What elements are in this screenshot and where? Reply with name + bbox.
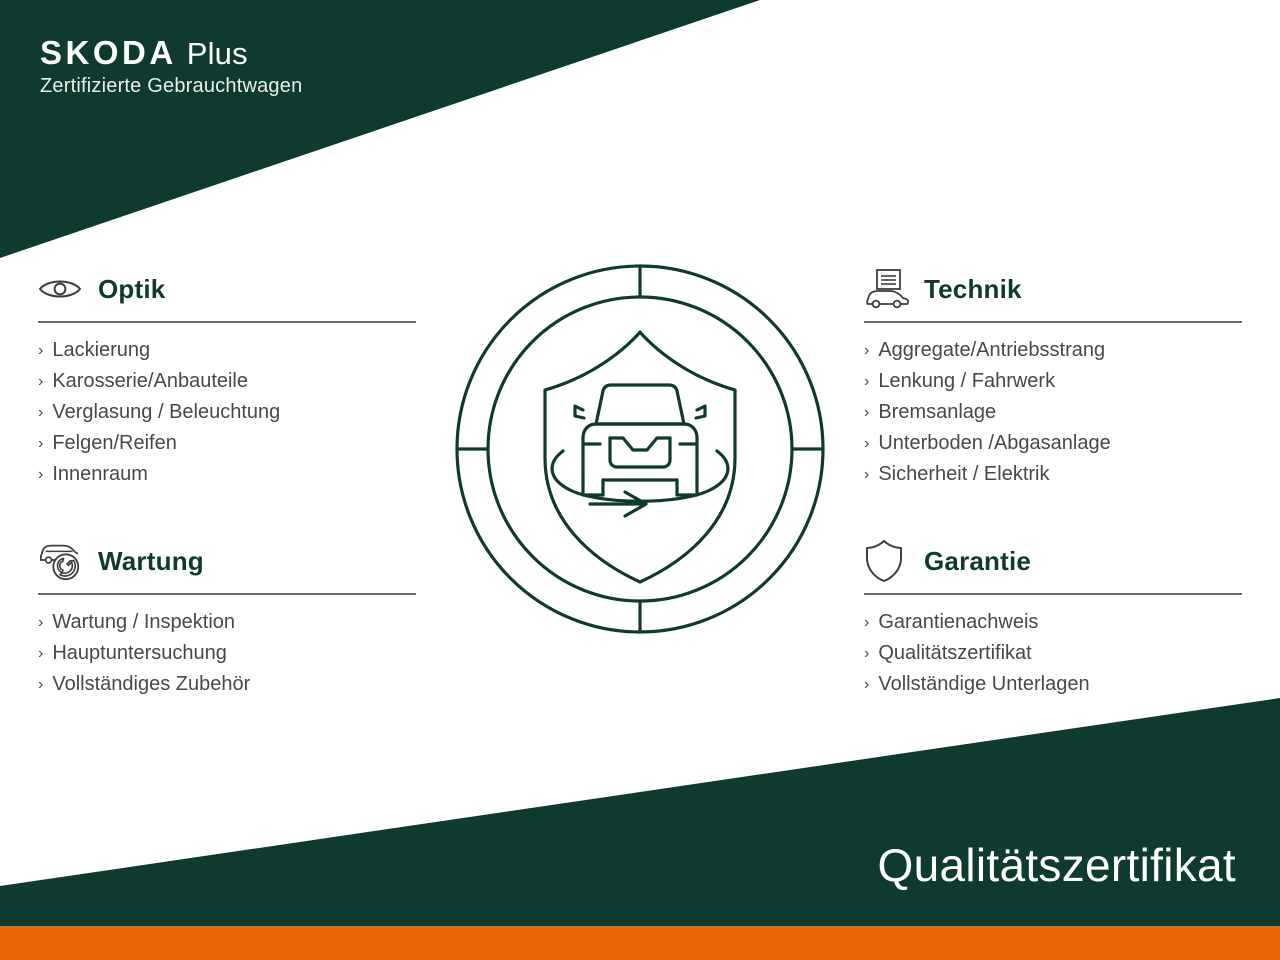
list-item-label: Aggregate/Antriebsstrang	[878, 335, 1105, 366]
certificate-page: SKODA Plus Zertifizierte Gebrauchtwagen …	[0, 0, 1280, 960]
chevron-right-icon: ›	[38, 335, 43, 366]
chevron-right-icon: ›	[864, 607, 869, 638]
section-garantie: Garantie ›Garantienachweis ›Qualitätszer…	[864, 538, 1242, 700]
shield-icon	[864, 541, 910, 581]
list-item: ›Innenraum	[38, 459, 416, 490]
car-document-icon	[864, 269, 910, 309]
section-optik: Optik ›Lackierung ›Karosserie/Anbauteile…	[38, 266, 416, 490]
plus-wordmark: Plus	[187, 36, 248, 72]
list-item: ›Verglasung / Beleuchtung	[38, 397, 416, 428]
list-item-label: Felgen/Reifen	[52, 428, 177, 459]
chevron-right-icon: ›	[38, 607, 43, 638]
chevron-right-icon: ›	[864, 335, 869, 366]
brand-logo-row: SKODA Plus	[40, 34, 302, 72]
list-item-label: Wartung / Inspektion	[52, 607, 235, 638]
shield-outline	[545, 332, 735, 582]
section-technik: Technik ›Aggregate/Antriebsstrang ›Lenku…	[864, 266, 1242, 490]
list-item-label: Lenkung / Fahrwerk	[878, 366, 1055, 397]
chevron-right-icon: ›	[864, 366, 869, 397]
section-optik-header: Optik	[38, 266, 416, 312]
chevron-right-icon: ›	[38, 397, 43, 428]
section-garantie-header: Garantie	[864, 538, 1242, 584]
list-item-label: Unterboden /Abgasanlage	[878, 428, 1110, 459]
orbit-ellipse	[552, 451, 730, 516]
section-technik-list: ›Aggregate/Antriebsstrang ›Lenkung / Fah…	[864, 335, 1242, 490]
chevron-right-icon: ›	[864, 459, 869, 490]
list-item-label: Verglasung / Beleuchtung	[52, 397, 280, 428]
list-item: ›Vollständige Unterlagen	[864, 669, 1242, 700]
list-item-label: Hauptuntersuchung	[52, 638, 227, 669]
list-item-label: Innenraum	[52, 459, 148, 490]
section-wartung-title: Wartung	[98, 546, 204, 577]
list-item: ›Lackierung	[38, 335, 416, 366]
section-wartung-header: Wartung	[38, 538, 416, 584]
eye-icon	[38, 269, 84, 309]
list-item-label: Garantienachweis	[878, 607, 1038, 638]
footer-title: Qualitätszertifikat	[878, 838, 1237, 892]
chevron-right-icon: ›	[864, 428, 869, 459]
list-item: ›Vollständiges Zubehör	[38, 669, 416, 700]
list-item: ›Wartung / Inspektion	[38, 607, 416, 638]
orange-accent-bar	[0, 926, 1280, 960]
list-item: ›Felgen/Reifen	[38, 428, 416, 459]
list-item: ›Sicherheit / Elektrik	[864, 459, 1242, 490]
list-item-label: Bremsanlage	[878, 397, 996, 428]
list-item-label: Karosserie/Anbauteile	[52, 366, 248, 397]
chevron-right-icon: ›	[864, 638, 869, 669]
section-garantie-divider	[864, 593, 1242, 595]
chevron-right-icon: ›	[38, 428, 43, 459]
section-technik-divider	[864, 321, 1242, 323]
list-item: ›Unterboden /Abgasanlage	[864, 428, 1242, 459]
section-wartung-divider	[38, 593, 416, 595]
section-garantie-title: Garantie	[924, 546, 1031, 577]
brand-logo: SKODA Plus Zertifizierte Gebrauchtwagen	[40, 34, 302, 98]
list-item: ›Karosserie/Anbauteile	[38, 366, 416, 397]
list-item: ›Garantienachweis	[864, 607, 1242, 638]
chevron-right-icon: ›	[38, 638, 43, 669]
skoda-wordmark: SKODA	[40, 34, 177, 72]
shield-car-orbit-emblem	[440, 248, 840, 650]
chevron-right-icon: ›	[864, 669, 869, 700]
section-wartung: Wartung ›Wartung / Inspektion ›Hauptunte…	[38, 538, 416, 700]
chevron-right-icon: ›	[38, 669, 43, 700]
section-optik-divider	[38, 321, 416, 323]
list-item-label: Sicherheit / Elektrik	[878, 459, 1049, 490]
chevron-right-icon: ›	[38, 459, 43, 490]
brand-tagline: Zertifizierte Gebrauchtwagen	[40, 75, 302, 98]
section-wartung-list: ›Wartung / Inspektion ›Hauptuntersuchung…	[38, 607, 416, 700]
list-item: ›Lenkung / Fahrwerk	[864, 366, 1242, 397]
list-item-label: Lackierung	[52, 335, 150, 366]
car-wrench-icon	[38, 541, 84, 581]
list-item: ›Qualitätszertifikat	[864, 638, 1242, 669]
section-garantie-list: ›Garantienachweis ›Qualitätszertifikat ›…	[864, 607, 1242, 700]
list-item-label: Vollständige Unterlagen	[878, 669, 1089, 700]
chevron-right-icon: ›	[38, 366, 43, 397]
list-item-label: Qualitätszertifikat	[878, 638, 1031, 669]
section-technik-header: Technik	[864, 266, 1242, 312]
car-front-outline	[575, 385, 705, 495]
section-optik-list: ›Lackierung ›Karosserie/Anbauteile ›Verg…	[38, 335, 416, 490]
list-item: ›Hauptuntersuchung	[38, 638, 416, 669]
section-technik-title: Technik	[924, 274, 1022, 305]
list-item-label: Vollständiges Zubehör	[52, 669, 250, 700]
list-item: ›Aggregate/Antriebsstrang	[864, 335, 1242, 366]
chevron-right-icon: ›	[864, 397, 869, 428]
list-item: ›Bremsanlage	[864, 397, 1242, 428]
section-optik-title: Optik	[98, 274, 165, 305]
